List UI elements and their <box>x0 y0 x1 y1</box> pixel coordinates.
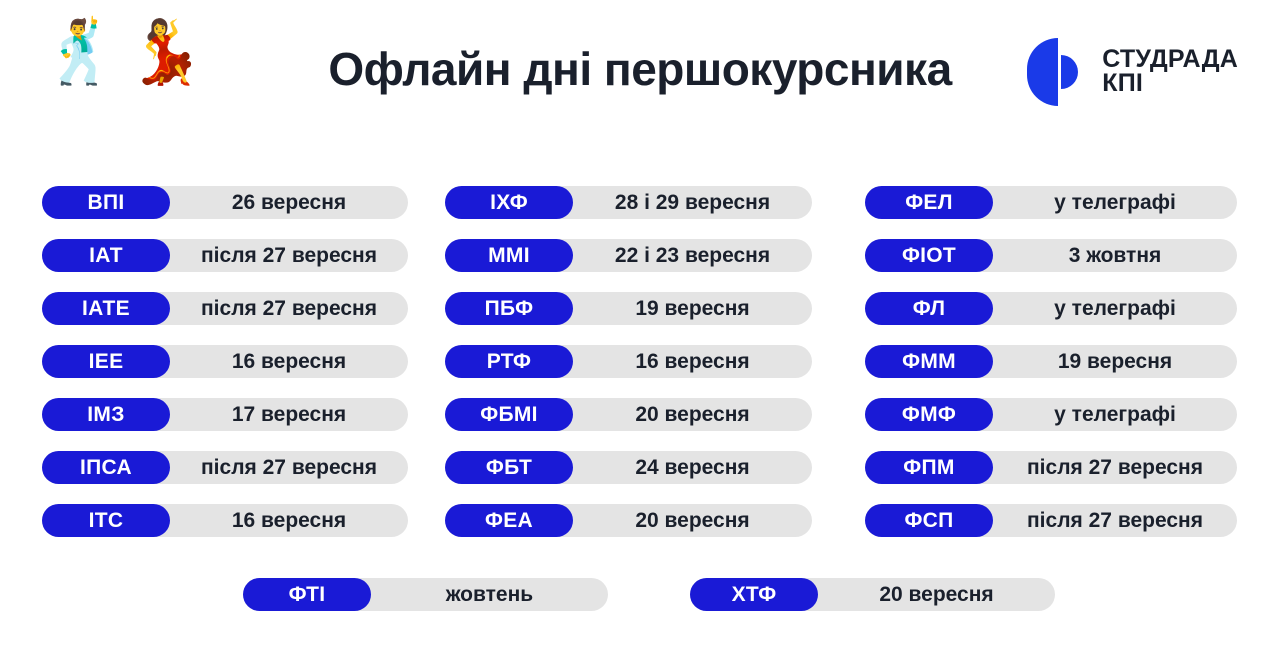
logo-small-half-circle <box>1061 55 1078 89</box>
faculty-badge: ФЕА <box>445 504 573 537</box>
faculty-badge: ФЕЛ <box>865 186 993 219</box>
faculty-date: 17 вересня <box>170 398 408 431</box>
faculty-date: 16 вересня <box>170 504 408 537</box>
faculty-column-1: ВПІ 26 вересня ІАТ після 27 вересня ІАТЕ… <box>42 186 408 557</box>
faculty-row: ФМФ у телеграфі <box>865 398 1237 431</box>
faculty-date: 20 вересня <box>573 398 812 431</box>
page-header: 🕺 💃 Офлайн дні першокурсника СТУДРАДА КП… <box>0 0 1280 160</box>
faculty-badge: ІМЗ <box>42 398 170 431</box>
faculty-row: ІТС 16 вересня <box>42 504 408 537</box>
faculty-row: ФТІ жовтень <box>243 578 608 611</box>
faculty-badge: ФСП <box>865 504 993 537</box>
faculty-date: 22 і 23 вересня <box>573 239 812 272</box>
faculty-date: 19 вересня <box>573 292 812 325</box>
studrada-kpi-logo-icon <box>1027 38 1089 106</box>
faculty-date: у телеграфі <box>993 186 1237 219</box>
faculty-row: ІАТЕ після 27 вересня <box>42 292 408 325</box>
faculty-row: ФБТ 24 вересня <box>445 451 812 484</box>
faculty-date: після 27 вересня <box>170 239 408 272</box>
faculty-date: 26 вересня <box>170 186 408 219</box>
brand-line-2: КПІ <box>1102 72 1238 96</box>
faculty-badge: ФММ <box>865 345 993 378</box>
faculty-badge: ФМФ <box>865 398 993 431</box>
faculty-row: ПБФ 19 вересня <box>445 292 812 325</box>
faculty-badge: ФІОТ <box>865 239 993 272</box>
faculty-date: у телеграфі <box>993 398 1237 431</box>
faculty-badge: ІАТЕ <box>42 292 170 325</box>
brand-lockup: СТУДРАДА КПІ <box>1027 38 1238 106</box>
faculty-date: після 27 вересня <box>170 451 408 484</box>
faculty-badge: ВПІ <box>42 186 170 219</box>
faculty-badge: ФПМ <box>865 451 993 484</box>
faculty-badge: ФБТ <box>445 451 573 484</box>
faculty-row: ММІ 22 і 23 вересня <box>445 239 812 272</box>
faculty-row: ФЕА 20 вересня <box>445 504 812 537</box>
faculty-date: 20 вересня <box>818 578 1055 611</box>
brand-text: СТУДРАДА КПІ <box>1102 48 1238 96</box>
faculty-row: ФІОТ 3 жовтня <box>865 239 1237 272</box>
faculty-date: 19 вересня <box>993 345 1237 378</box>
faculty-row: ІМЗ 17 вересня <box>42 398 408 431</box>
faculty-date: 3 жовтня <box>993 239 1237 272</box>
faculty-date: у телеграфі <box>993 292 1237 325</box>
faculty-badge: ФТІ <box>243 578 371 611</box>
faculty-date: жовтень <box>371 578 608 611</box>
faculty-row: ФСП після 27 вересня <box>865 504 1237 537</box>
faculty-date: після 27 вересня <box>170 292 408 325</box>
faculty-row: РТФ 16 вересня <box>445 345 812 378</box>
faculty-badge: ІЕЕ <box>42 345 170 378</box>
faculty-badge: ХТФ <box>690 578 818 611</box>
faculty-date: після 27 вересня <box>993 504 1237 537</box>
faculty-badge: ФБМІ <box>445 398 573 431</box>
faculty-date: 24 вересня <box>573 451 812 484</box>
faculty-row: ІАТ після 27 вересня <box>42 239 408 272</box>
faculty-row: ФЛ у телеграфі <box>865 292 1237 325</box>
faculty-badge: ІТС <box>42 504 170 537</box>
faculty-badge: ІХФ <box>445 186 573 219</box>
faculty-column-2: ІХФ 28 і 29 вересня ММІ 22 і 23 вересня … <box>445 186 812 557</box>
faculty-column-3: ФЕЛ у телеграфі ФІОТ 3 жовтня ФЛ у телег… <box>865 186 1237 557</box>
faculty-row: ІПСА після 27 вересня <box>42 451 408 484</box>
faculty-badge: ПБФ <box>445 292 573 325</box>
faculty-date: 28 і 29 вересня <box>573 186 812 219</box>
faculty-row: ІХФ 28 і 29 вересня <box>445 186 812 219</box>
faculty-date: 16 вересня <box>573 345 812 378</box>
faculty-row: ФПМ після 27 вересня <box>865 451 1237 484</box>
faculty-badge: ІПСА <box>42 451 170 484</box>
faculty-row: ХТФ 20 вересня <box>690 578 1055 611</box>
faculty-badge: ІАТ <box>42 239 170 272</box>
faculty-row: ФЕЛ у телеграфі <box>865 186 1237 219</box>
faculty-date: 20 вересня <box>573 504 812 537</box>
faculty-row: ІЕЕ 16 вересня <box>42 345 408 378</box>
faculty-date: 16 вересня <box>170 345 408 378</box>
faculty-badge: ММІ <box>445 239 573 272</box>
faculty-badge: РТФ <box>445 345 573 378</box>
faculty-row: ФБМІ 20 вересня <box>445 398 812 431</box>
faculty-row: ВПІ 26 вересня <box>42 186 408 219</box>
faculty-date: після 27 вересня <box>993 451 1237 484</box>
faculty-bottom-row: ФТІ жовтень ХТФ 20 вересня <box>0 578 1280 611</box>
logo-large-half-circle <box>1027 38 1058 106</box>
faculty-badge: ФЛ <box>865 292 993 325</box>
faculty-row: ФММ 19 вересня <box>865 345 1237 378</box>
